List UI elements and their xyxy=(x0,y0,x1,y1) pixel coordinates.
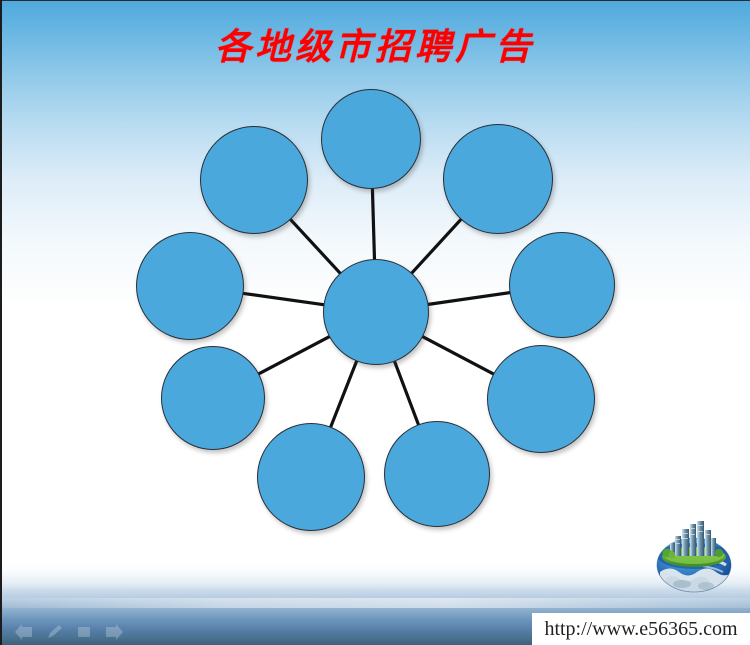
node-left[interactable] xyxy=(136,232,244,340)
spoke-node-top-right xyxy=(411,219,461,274)
spoke-node-left xyxy=(243,293,325,305)
watermark-url: http://www.e56365.com xyxy=(544,618,737,641)
node-top-left[interactable] xyxy=(200,126,308,234)
earth-city-globe-logo xyxy=(648,516,740,594)
spoke-node-top-left xyxy=(290,219,341,274)
center-node[interactable] xyxy=(323,259,429,365)
spoke-node-bottom xyxy=(330,360,357,427)
node-bottom-left[interactable] xyxy=(161,346,265,450)
spoke-node-bottom-left xyxy=(258,336,330,374)
node-bottom[interactable] xyxy=(257,423,365,531)
spoke-node-top xyxy=(372,188,374,260)
slide-canvas: 各地级市招聘广告 xyxy=(0,0,750,645)
pencil-icon[interactable] xyxy=(46,624,64,640)
watermark: http://www.e56365.com xyxy=(532,613,750,645)
node-bottom-2[interactable] xyxy=(384,421,490,527)
square-icon[interactable] xyxy=(76,624,92,640)
spoke-node-bottom-right xyxy=(422,336,494,374)
node-top-right[interactable] xyxy=(443,124,553,234)
navigation-icons-group xyxy=(14,622,124,642)
spoke-node-bottom-2 xyxy=(394,361,418,426)
spoke-node-right xyxy=(428,293,511,305)
node-top[interactable] xyxy=(321,89,421,189)
node-right[interactable] xyxy=(509,232,615,338)
hub-and-spoke-diagram xyxy=(0,0,750,645)
forward-arrow-icon[interactable] xyxy=(104,624,124,640)
node-bottom-right[interactable] xyxy=(487,345,595,453)
back-arrow-icon[interactable] xyxy=(14,624,34,640)
